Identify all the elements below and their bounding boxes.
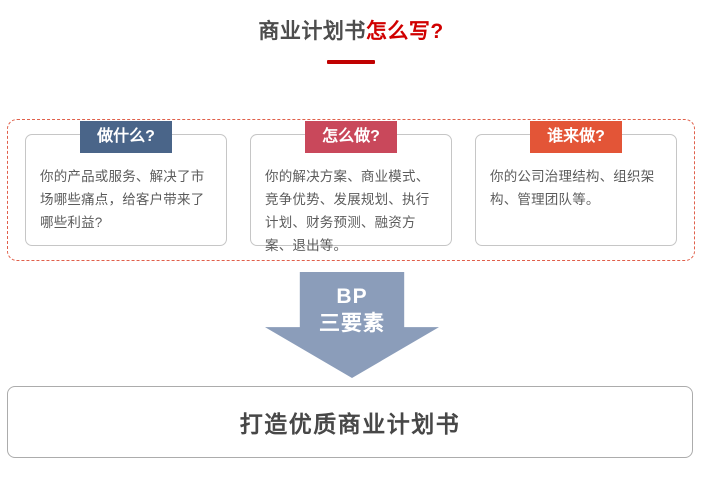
card-how[interactable]: 怎么做? 你的解决方案、商业模式、竞争优势、发展规划、执行计划、财务预测、融资方… (250, 134, 452, 246)
card-how-body: 你的解决方案、商业模式、竞争优势、发展规划、执行计划、财务预测、融资方案、退出等… (251, 165, 451, 257)
down-arrow: BP 三要素 (265, 272, 439, 378)
card-what[interactable]: 做什么? 你的产品或服务、解决了市场哪些痛点，给客户带来了哪些利益? (25, 134, 227, 246)
down-arrow-icon (265, 272, 439, 378)
card-who-body: 你的公司治理结构、组织架构、管理团队等。 (476, 165, 676, 211)
card-who-badge: 谁来做? (530, 121, 622, 153)
cards-row: 做什么? 你的产品或服务、解决了市场哪些痛点，给客户带来了哪些利益? 怎么做? … (7, 119, 695, 261)
conclusion-banner: 打造优质商业计划书 (7, 386, 693, 458)
page-title-primary: 商业计划书 (258, 20, 366, 43)
page-title-accent: 怎么写? (366, 20, 444, 43)
title-divider (327, 60, 375, 64)
page-title: 商业计划书怎么写? (0, 18, 702, 46)
page-title-block: 商业计划书怎么写? (0, 18, 702, 64)
card-what-body: 你的产品或服务、解决了市场哪些痛点，给客户带来了哪些利益? (26, 165, 226, 234)
conclusion-text: 打造优质商业计划书 (240, 405, 461, 439)
card-what-badge: 做什么? (80, 121, 172, 153)
card-how-badge: 怎么做? (305, 121, 397, 153)
card-who[interactable]: 谁来做? 你的公司治理结构、组织架构、管理团队等。 (475, 134, 677, 246)
